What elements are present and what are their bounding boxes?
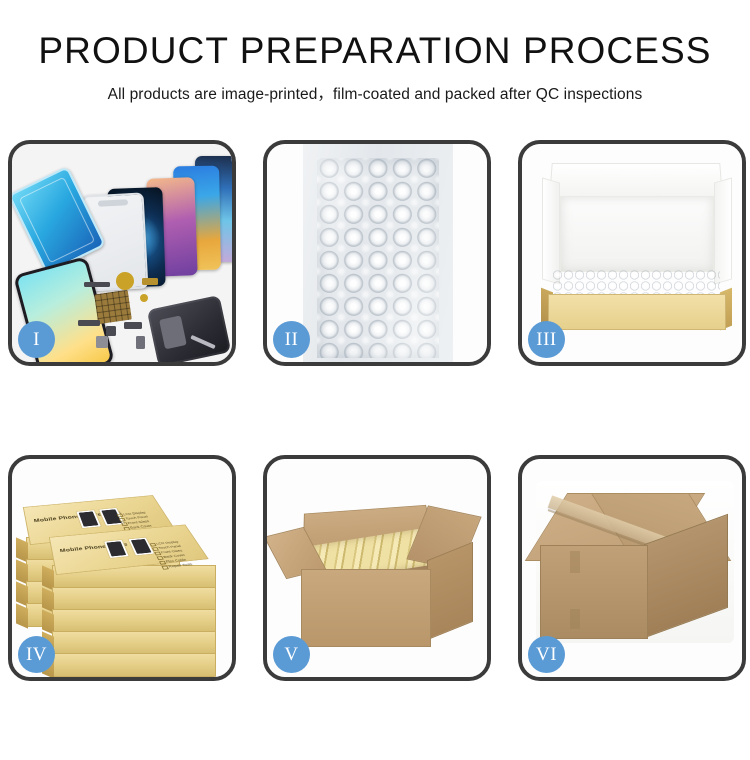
step-panel-ii[interactable]: II xyxy=(263,140,491,366)
step-image-open-carton: V xyxy=(267,459,487,677)
speaker-part-icon xyxy=(84,282,110,287)
retail-box-front-2 xyxy=(52,587,216,611)
screw-part-icon xyxy=(140,294,148,302)
battery-part-icon xyxy=(136,336,145,349)
retail-box-front-3 xyxy=(52,609,216,633)
step-image-sealed-carton: VI xyxy=(522,459,742,677)
process-steps-grid: I II II xyxy=(0,140,750,760)
flex-cable-part-icon xyxy=(142,278,158,285)
foam-sheet xyxy=(560,196,714,272)
carton-seam-bottom xyxy=(570,609,580,629)
bracket-part-icon xyxy=(124,322,142,329)
step-panel-iii[interactable]: III xyxy=(518,140,746,366)
button-part-icon xyxy=(106,326,116,336)
step-panel-iv[interactable]: Mobile Phone Spare Parts LCD Display Tou… xyxy=(8,455,236,681)
step-image-phone-parts: I xyxy=(12,144,232,362)
step-badge-i: I xyxy=(18,321,55,358)
plastic-sheen xyxy=(317,158,439,358)
step-image-inner-box: III xyxy=(522,144,742,362)
camera-lens-part-icon xyxy=(116,272,134,290)
box-flap-right xyxy=(714,177,732,284)
step-panel-i[interactable]: I xyxy=(8,140,236,366)
step-panel-v[interactable]: V xyxy=(263,455,491,681)
page-subtitle: All products are image-printed，film-coat… xyxy=(0,82,750,104)
step-badge-vi: VI xyxy=(528,636,565,673)
page-title: PRODUCT PREPARATION PROCESS xyxy=(0,32,750,71)
carton-front-panel xyxy=(540,545,648,639)
retail-box-front-4 xyxy=(52,631,216,655)
step-panel-vi[interactable]: VI xyxy=(518,455,746,681)
step-badge-iii: III xyxy=(528,321,565,358)
bubble-wrapped-contents xyxy=(552,270,720,296)
connector-part-icon xyxy=(78,320,100,326)
process-row-bottom: Mobile Phone Spare Parts LCD Display Tou… xyxy=(0,450,750,760)
retail-box-front-5 xyxy=(52,653,216,677)
step-badge-ii: II xyxy=(273,321,310,358)
step-badge-iv: IV xyxy=(18,636,55,673)
step-badge-v: V xyxy=(273,636,310,673)
carton-front-panel xyxy=(301,569,431,647)
box-front-panel xyxy=(548,294,726,330)
box-flap-left xyxy=(542,177,560,284)
process-row-top: I II II xyxy=(0,140,750,450)
page-header: PRODUCT PREPARATION PROCESS All products… xyxy=(0,0,750,104)
step-image-stacked-boxes: Mobile Phone Spare Parts LCD Display Tou… xyxy=(12,459,232,677)
chip-array-icon xyxy=(94,290,132,324)
step-image-bubble-wrap: II xyxy=(267,144,487,362)
carton-seam-top xyxy=(570,551,580,573)
vibrator-part-icon xyxy=(96,336,108,348)
